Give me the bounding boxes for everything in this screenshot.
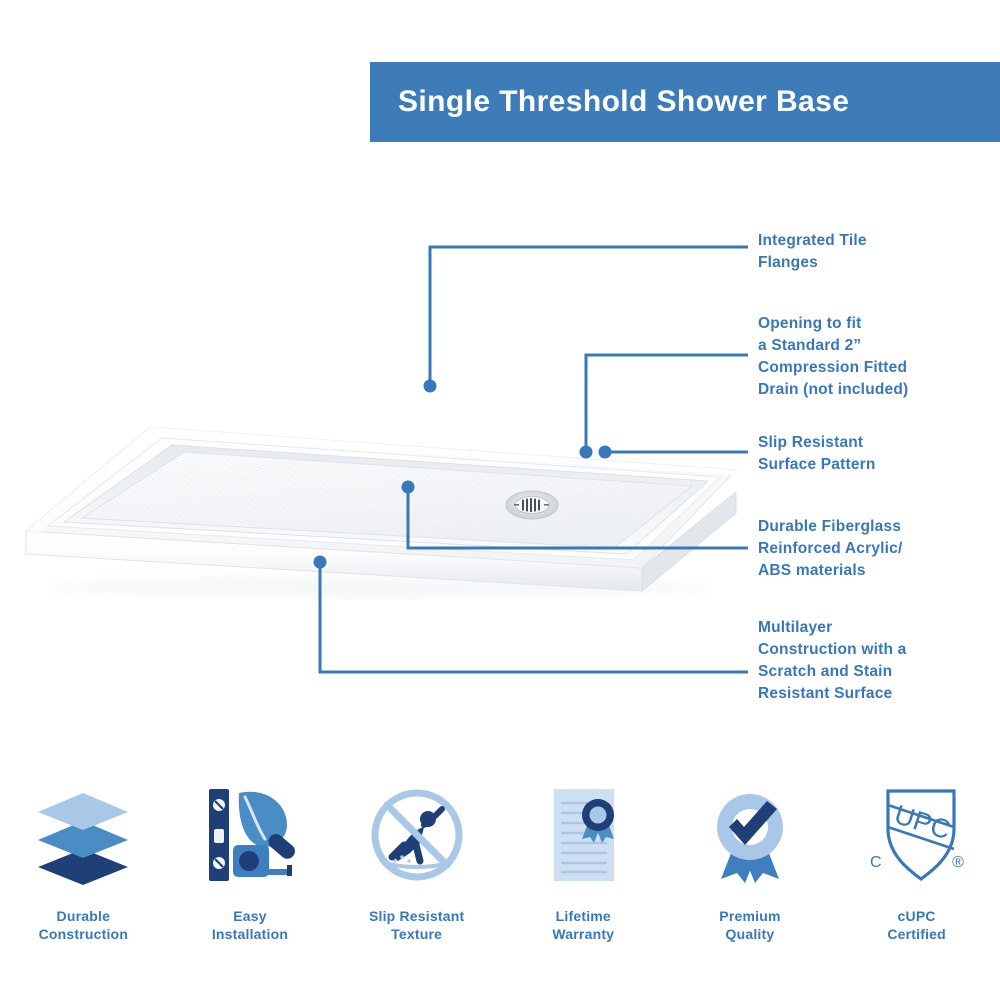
feature-label: Durable Construction: [39, 907, 129, 943]
feature-durable-construction: Durable Construction: [8, 775, 158, 943]
callout-materials: Durable Fiberglass Reinforced Acrylic/ A…: [758, 516, 998, 582]
page-title: Single Threshold Shower Base: [398, 85, 849, 119]
feature-label: Easy Installation: [212, 907, 288, 943]
callout-multilayer-construction: Multilayer Construction with a Scratch a…: [758, 617, 998, 705]
drain-grate: [506, 491, 558, 519]
feature-easy-installation: Easy Installation: [175, 775, 325, 943]
cupc-shield-icon: UPC C ®: [862, 775, 972, 895]
level-trowel-icon: [195, 775, 305, 895]
feature-label: Slip Resistant Texture: [369, 907, 464, 943]
feature-slip-resistant-texture: Slip Resistant Texture: [342, 775, 492, 943]
title-banner: Single Threshold Shower Base: [370, 62, 1000, 142]
cupc-left-mark: C: [870, 854, 882, 871]
callout-drain-opening: Opening to fit a Standard 2” Compression…: [758, 313, 998, 401]
product-image: [20, 355, 760, 600]
rosette-check-icon: [695, 775, 805, 895]
feature-label: Lifetime Warranty: [552, 907, 614, 943]
feature-cupc-certified: UPC C ® cUPC Certified: [842, 775, 992, 943]
layers-icon: [28, 775, 138, 895]
feature-label: cUPC Certified: [887, 907, 946, 943]
callout-slip-resistant-surface: Slip Resistant Surface Pattern: [758, 432, 993, 476]
no-slip-icon: [362, 775, 472, 895]
feature-strip: Durable Construction: [0, 775, 1000, 975]
callout-integrated-tile-flanges: Integrated Tile Flanges: [758, 230, 993, 274]
feature-label: Premium Quality: [719, 907, 780, 943]
cupc-registered-mark: ®: [952, 854, 964, 871]
shower-base-illustration: [20, 355, 760, 600]
warranty-doc-icon: [528, 775, 638, 895]
feature-lifetime-warranty: Lifetime Warranty: [508, 775, 658, 943]
feature-premium-quality: Premium Quality: [675, 775, 825, 943]
